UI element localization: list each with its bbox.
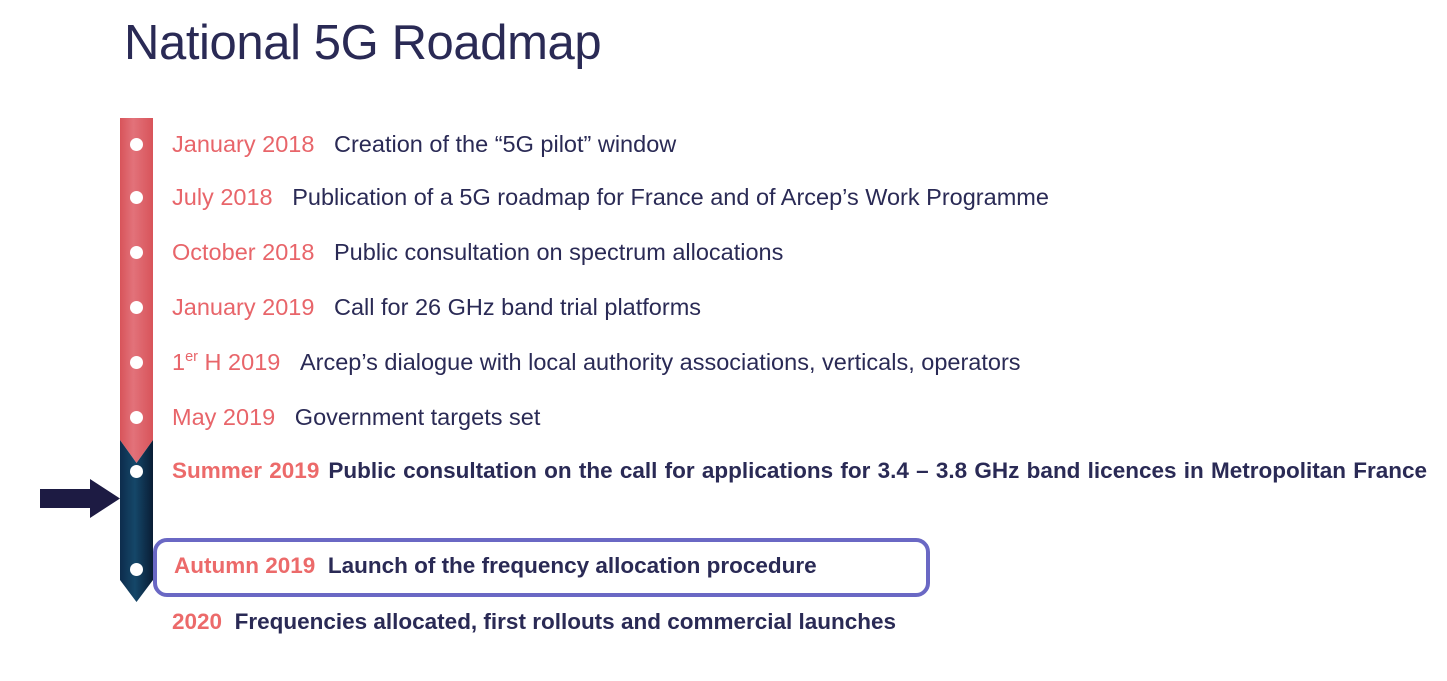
timeline-row-summer-2019: Summer 2019Public consultation on the ca… — [172, 455, 1427, 517]
timeline-bullet — [130, 191, 143, 204]
timeline-bullet — [130, 138, 143, 151]
timeline-date: October 2018 — [172, 239, 314, 265]
timeline-row-january-2018: January 2018 Creation of the “5G pilot” … — [172, 130, 676, 159]
timeline-bullet — [130, 563, 143, 576]
timeline-date: 1er H 2019 — [172, 349, 280, 375]
timeline-description: Public consultation on the call for appl… — [328, 458, 1427, 483]
timeline-row-january-2019: January 2019 Call for 26 GHz band trial … — [172, 293, 701, 322]
timeline-description: Arcep’s dialogue with local authority as… — [300, 349, 1021, 375]
timeline-row-july-2018: July 2018 Publication of a 5G roadmap fo… — [172, 183, 1049, 212]
timeline-row-2020: 2020 Frequencies allocated, first rollou… — [172, 608, 896, 635]
timeline-bullet — [130, 246, 143, 259]
timeline-description: Frequencies allocated, first rollouts an… — [235, 609, 896, 634]
timeline-date: 2020 — [172, 609, 222, 634]
timeline-description: Launch of the frequency allocation proce… — [328, 553, 817, 578]
current-stage-arrow-icon — [38, 478, 122, 520]
timeline-date: Summer 2019 — [172, 458, 319, 483]
timeline-bullet — [130, 465, 143, 478]
timeline-row-october-2018: October 2018 Public consultation on spec… — [172, 238, 783, 267]
timeline-date: January 2019 — [172, 294, 314, 320]
timeline-description: Government targets set — [295, 404, 541, 430]
page-title: National 5G Roadmap — [124, 18, 601, 69]
timeline-description: Publication of a 5G roadmap for France a… — [292, 184, 1049, 210]
timeline-date: Autumn 2019 — [174, 553, 315, 578]
timeline-bullet — [130, 411, 143, 424]
timeline-bullet — [130, 356, 143, 369]
timeline-row-first-half-2019: 1er H 2019 Arcep’s dialogue with local a… — [172, 348, 1021, 377]
timeline-description: Public consultation on spectrum allocati… — [334, 239, 783, 265]
timeline-description: Call for 26 GHz band trial platforms — [334, 294, 701, 320]
timeline-row-may-2019: May 2019 Government targets set — [172, 403, 540, 432]
timeline-date: January 2018 — [172, 131, 314, 157]
timeline-bullet — [130, 301, 143, 314]
ordinal-suffix: er — [185, 349, 198, 365]
timeline-description: Creation of the “5G pilot” window — [334, 131, 676, 157]
timeline-row-autumn-2019: Autumn 2019 Launch of the frequency allo… — [174, 552, 817, 579]
timeline-date: July 2018 — [172, 184, 273, 210]
timeline-date: May 2019 — [172, 404, 275, 430]
